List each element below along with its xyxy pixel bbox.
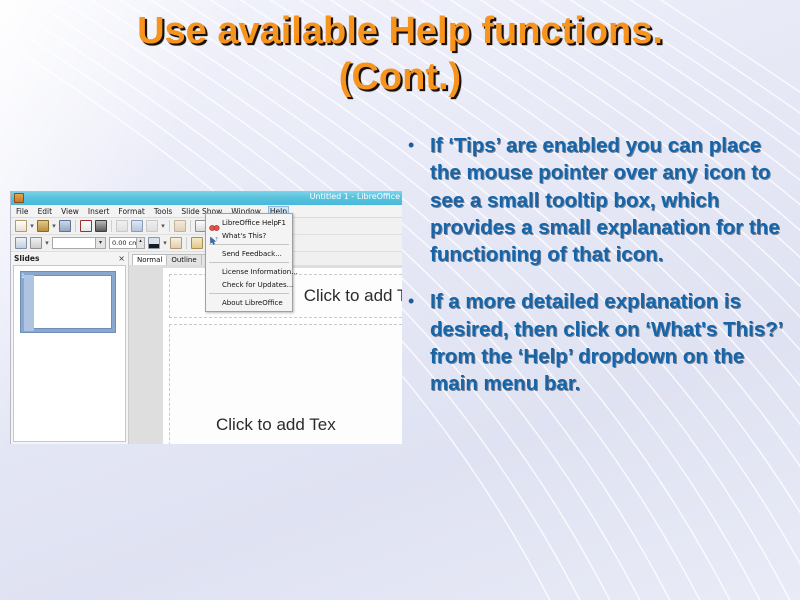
- whats-this-icon: ?: [209, 231, 222, 241]
- bullet-text: If ‘Tips’ are enabled you can place the …: [430, 132, 784, 268]
- line-width-field[interactable]: 0.00 cm ▴: [109, 237, 145, 249]
- menu-view[interactable]: View: [60, 207, 80, 216]
- paste-icon: [146, 220, 158, 232]
- close-icon[interactable]: ×: [118, 255, 125, 263]
- menu-file[interactable]: File: [15, 207, 30, 216]
- toolbar-separator: [111, 220, 112, 232]
- tab-outline[interactable]: Outline: [166, 254, 201, 265]
- menu-item-whats-this[interactable]: ? What's This?: [206, 229, 292, 242]
- slides-panel: Slides × 1: [11, 252, 129, 444]
- bullet-marker: •: [408, 288, 430, 397]
- print-icon[interactable]: [95, 220, 107, 232]
- window-titlebar: Untitled 1 - LibreOffice: [11, 191, 402, 205]
- menu-item-license-information[interactable]: License Information...: [206, 265, 292, 278]
- bullet-item: • If ‘Tips’ are enabled you can place th…: [408, 132, 784, 268]
- line-color-icon[interactable]: [148, 237, 160, 249]
- svg-text:?: ?: [215, 236, 218, 242]
- body-placeholder[interactable]: Click to add Tex: [169, 324, 402, 444]
- menu-item-label: About LibreOffice: [222, 299, 283, 307]
- toolbar-separator: [169, 220, 170, 232]
- menu-item-label: License Information...: [222, 268, 298, 276]
- line-style-selector[interactable]: ▾: [52, 237, 106, 249]
- export-pdf-icon[interactable]: [80, 220, 92, 232]
- chevron-down-icon[interactable]: ▾: [95, 238, 105, 248]
- menu-format[interactable]: Format: [117, 207, 145, 216]
- toolbar-separator: [186, 237, 187, 249]
- menu-item-shortcut: F1: [278, 219, 286, 227]
- menu-separator: [209, 293, 289, 294]
- thumbnail-preview: [30, 275, 112, 329]
- presentation-slide: Use available Help functions. (Cont.) • …: [0, 0, 800, 600]
- slides-panel-header: Slides ×: [11, 252, 128, 265]
- menu-edit[interactable]: Edit: [37, 207, 54, 216]
- glue-points-icon[interactable]: [170, 237, 182, 249]
- slides-panel-title: Slides: [14, 254, 39, 263]
- dropdown-arrow-icon[interactable]: ▾: [45, 239, 49, 247]
- menu-item-label: What's This?: [222, 232, 266, 240]
- dropdown-arrow-icon[interactable]: ▾: [30, 222, 34, 230]
- zoom-icon[interactable]: [15, 237, 27, 249]
- menu-item-label: Check for Updates...: [222, 281, 293, 289]
- copy-icon[interactable]: [131, 220, 143, 232]
- menu-item-check-for-updates[interactable]: Check for Updates...: [206, 278, 292, 291]
- cut-icon: [116, 220, 128, 232]
- slides-panel-list[interactable]: 1: [13, 265, 126, 442]
- embedded-libreoffice-screenshot: Untitled 1 - LibreOffice File Edit View …: [10, 191, 402, 444]
- menu-separator: [209, 262, 289, 263]
- menu-tools[interactable]: Tools: [153, 207, 173, 216]
- save-icon[interactable]: [59, 220, 71, 232]
- new-document-icon[interactable]: [15, 220, 27, 232]
- spinner-arrows-icon[interactable]: ▴: [136, 238, 144, 248]
- menu-item-libreoffice-help[interactable]: LibreOffice Help F1: [206, 216, 292, 229]
- slide-number: 1: [21, 273, 25, 280]
- thumbnail-selection-bar: [24, 275, 34, 331]
- body-placeholder-text: Click to add Tex: [216, 415, 336, 435]
- menu-item-about-libreoffice[interactable]: About LibreOffice: [206, 296, 292, 309]
- bullet-item: • If a more detailed explanation is desi…: [408, 288, 784, 397]
- dropdown-arrow-icon[interactable]: ▾: [161, 222, 165, 230]
- master-slide-icon[interactable]: [191, 237, 203, 249]
- toolbar-separator: [190, 220, 191, 232]
- title-placeholder-text: Click to add T: [304, 286, 402, 306]
- display-views-icon[interactable]: [30, 237, 42, 249]
- toolbar-separator: [75, 220, 76, 232]
- menu-insert[interactable]: Insert: [87, 207, 111, 216]
- tab-normal[interactable]: Normal: [132, 254, 167, 265]
- dropdown-arrow-icon[interactable]: ▾: [52, 222, 56, 230]
- slide-body-content: • If ‘Tips’ are enabled you can place th…: [408, 132, 784, 417]
- help-dropdown-menu[interactable]: LibreOffice Help F1 ? What's This? Send …: [205, 213, 293, 312]
- bullet-marker: •: [408, 132, 430, 268]
- title-line-2: (Cont.): [40, 54, 760, 100]
- title-line-1: Use available Help functions.: [40, 8, 760, 54]
- open-icon[interactable]: [37, 220, 49, 232]
- bullet-text: If a more detailed explanation is desire…: [430, 288, 784, 397]
- menu-item-label: Send Feedback...: [222, 250, 282, 258]
- menu-separator: [209, 244, 289, 245]
- line-width-value: 0.00 cm: [112, 239, 138, 247]
- clone-formatting-icon: [174, 220, 186, 232]
- help-icon: [209, 218, 222, 228]
- menu-item-label: LibreOffice Help: [222, 219, 278, 227]
- slide-thumbnail[interactable]: 1: [20, 271, 116, 333]
- window-title: Untitled 1 - LibreOffice: [310, 192, 400, 201]
- libreoffice-icon: [14, 193, 24, 203]
- slide-title: Use available Help functions. (Cont.): [40, 8, 760, 101]
- dropdown-arrow-icon[interactable]: ▾: [163, 239, 167, 247]
- menu-item-send-feedback[interactable]: Send Feedback...: [206, 247, 292, 260]
